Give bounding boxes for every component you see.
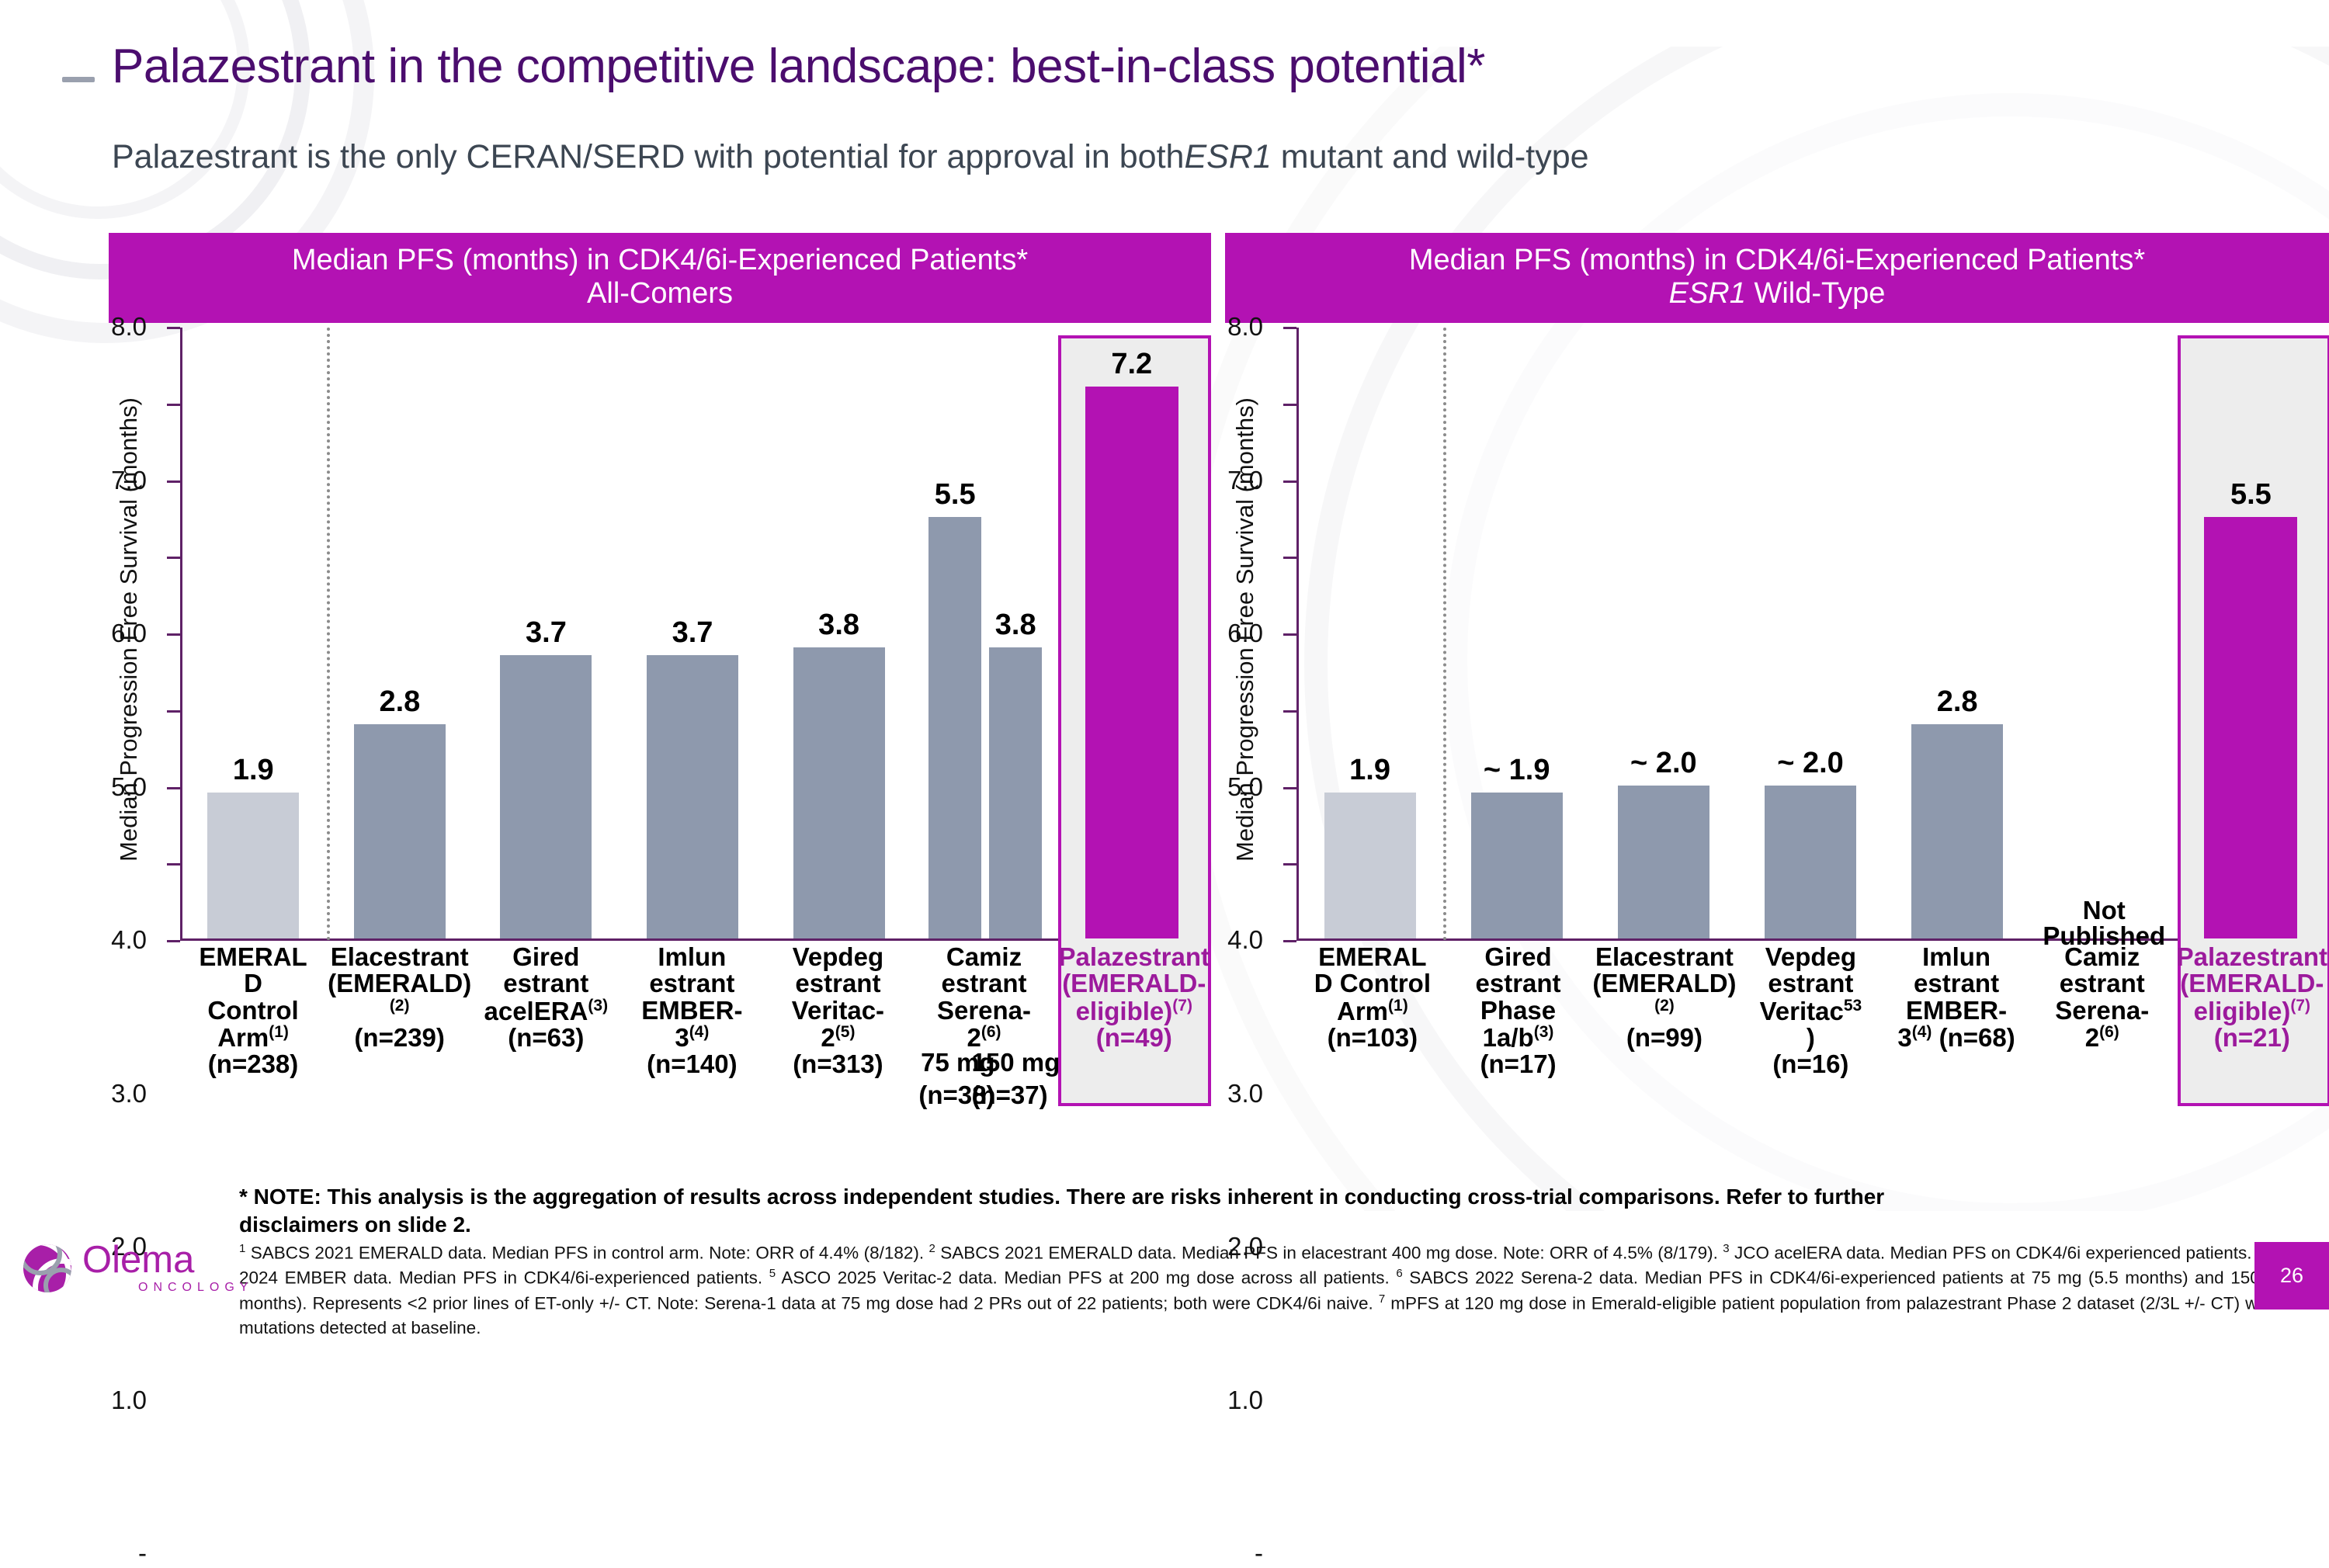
bar[interactable]: 2.8 <box>354 724 446 939</box>
footnote-note: * NOTE: This analysis is the aggregation… <box>239 1183 1947 1239</box>
y-tick-label: 4.0 <box>111 925 147 955</box>
footnote-references: 1 SABCS 2021 EMERALD data. Median PFS in… <box>239 1240 2327 1341</box>
bar-value-label: 2.8 <box>1937 685 1978 719</box>
chart-all-comers: Median Progression Free Survival (months… <box>109 323 1211 1262</box>
bar-value-label: 3.7 <box>672 616 713 650</box>
y-tick: 6.0 <box>1283 480 1296 483</box>
y-tick-label: 1.0 <box>111 1386 147 1415</box>
x-axis-category-label: Palazestrant(EMERALD-eligible)(7)(n=21) <box>2175 944 2329 1078</box>
x-axis-category-label: GiredestrantacelERA(3)(n=63) <box>473 944 619 1084</box>
bar-slot[interactable]: ~ 2.0 <box>1590 328 1737 938</box>
control-divider <box>1443 328 1446 941</box>
bar-slot[interactable]: 3.8 <box>765 328 912 938</box>
y-tick: 2.0 <box>1283 787 1296 789</box>
x-axis-line-left <box>180 938 1205 941</box>
panel-left-header-line2: All-Comers <box>116 277 1203 310</box>
bar[interactable]: 3.7 <box>500 655 592 938</box>
bar-group: 1.92.83.73.73.85.53.87.2 <box>180 328 1205 938</box>
y-tick: 1.0 <box>167 863 180 866</box>
bar-value-label: 3.8 <box>818 609 859 642</box>
bar[interactable]: ~ 2.0 <box>1765 786 1856 939</box>
y-tick: 3.0 <box>1283 710 1296 713</box>
x-axis-category-label: EMERALD ControlArm(1)(n=103) <box>1300 944 1446 1078</box>
page-number: 26 <box>2254 1242 2329 1310</box>
bar-value-label: 1.9 <box>1349 754 1390 787</box>
x-axis-category-label: Elacestrant(EMERALD)(2)(n=239) <box>326 944 473 1084</box>
company-logo: Olema ONCOLOGY <box>23 1242 253 1295</box>
subtitle-part-a: Palazestrant is the only CERAN/SERD with… <box>112 138 1184 175</box>
y-tick-label: 8.0 <box>111 312 147 342</box>
bar-slot[interactable]: 2.8 <box>327 328 474 938</box>
chart-esr1-wild-type: Median Progression Free Survival (months… <box>1225 323 2329 1262</box>
bar-value-label: 5.5 <box>935 478 976 512</box>
x-axis-category-label: EMERALDControlArm(1)(n=238) <box>180 944 326 1084</box>
bar-slot[interactable]: 3.7 <box>620 328 766 938</box>
bar-group: 1.9~ 1.9~ 2.0~ 2.02.8Not Published5.5 <box>1296 328 2324 938</box>
bar-value-label: 7.2 <box>1111 348 1152 381</box>
y-tick: 2.0 <box>167 787 180 789</box>
bar[interactable]: 7.2 <box>1085 387 1178 938</box>
bar-slot[interactable]: 7.2 <box>1058 328 1205 938</box>
bar-slot[interactable]: ~ 1.9 <box>1443 328 1590 938</box>
bar-value-label: 3.8 <box>995 609 1036 642</box>
bar-slot[interactable]: 3.7 <box>473 328 620 938</box>
bar-slot[interactable]: 1.9 <box>1296 328 1443 938</box>
panel-right-gene-name: ESR1 <box>1669 277 1746 310</box>
bar[interactable]: 2.8 <box>1911 724 2003 939</box>
y-tick: 5.0 <box>1283 557 1296 559</box>
not-published-label: Not Published <box>2036 897 2172 949</box>
bar-value-label: 3.7 <box>526 616 567 650</box>
dash-icon <box>62 77 95 82</box>
x-axis-labels-left: EMERALDControlArm(1)(n=238)Elacestrant(E… <box>180 944 1211 1084</box>
slide-header: Palazestrant in the competitive landscap… <box>62 43 1485 91</box>
y-tick: 4.0 <box>167 633 180 636</box>
bar[interactable]: 5.5 <box>2204 517 2297 938</box>
x-axis-category-label: ImlunestrantEMBER-3(4)(n=140) <box>619 944 765 1084</box>
y-tick: 4.0 <box>1283 633 1296 636</box>
y-tick: 6.0 <box>167 480 180 483</box>
bar[interactable]: 1.9 <box>207 793 299 938</box>
bar[interactable]: 3.7 <box>647 655 738 938</box>
y-tick: 5.0 <box>167 557 180 559</box>
panel-left-header-line1: Median PFS (months) in CDK4/6i-Experienc… <box>116 244 1203 277</box>
panel-right-header: Median PFS (months) in CDK4/6i-Experienc… <box>1225 233 2329 323</box>
y-tick: - <box>167 940 180 942</box>
x-axis-category-label: Elacestrant(EMERALD)(2)(n=99) <box>1591 944 1737 1078</box>
bar-slot[interactable]: 1.9 <box>180 328 327 938</box>
panel-esr1-wild-type: Median PFS (months) in CDK4/6i-Experienc… <box>1225 233 2329 1262</box>
y-tick-label: 3.0 <box>111 1079 147 1108</box>
bar[interactable]: 1.9 <box>1324 793 1416 938</box>
page-title: Palazestrant in the competitive landscap… <box>112 43 1485 91</box>
bar-value-label: ~ 2.0 <box>1630 747 1697 780</box>
x-axis-category-label: VepdegestrantVeritac-2(5)(n=313) <box>765 944 911 1084</box>
y-tick: 3.0 <box>167 710 180 713</box>
bar-value-label: 1.9 <box>233 754 274 787</box>
page-subtitle: Palazestrant is the only CERAN/SERD with… <box>112 138 1589 176</box>
y-tick-label: 3.0 <box>1227 1079 1263 1108</box>
panel-right-header-rest: Wild-Type <box>1746 277 1885 310</box>
bar-slot[interactable]: 2.8 <box>1884 328 2031 938</box>
olema-mark-icon <box>23 1244 71 1292</box>
y-tick: 8.0 <box>1283 327 1296 329</box>
y-tick-label: 6.0 <box>1227 619 1263 648</box>
bar-slot[interactable]: 5.5 <box>2178 328 2324 938</box>
panel-all-comers: Median PFS (months) in CDK4/6i-Experienc… <box>109 233 1211 1262</box>
bar-slot[interactable]: Not Published <box>2031 328 2178 938</box>
x-axis-labels-right: EMERALD ControlArm(1)(n=103)Giredestrant… <box>1300 944 2329 1078</box>
bar[interactable]: 3.8 <box>793 647 885 938</box>
x-axis-category-label: ImlunestrantEMBER-3(4) (n=68) <box>1883 944 2029 1078</box>
y-tick: 8.0 <box>167 327 180 329</box>
y-tick: 1.0 <box>1283 863 1296 866</box>
bar[interactable]: ~ 2.0 <box>1618 786 1709 939</box>
bar[interactable]: 5.5 <box>928 517 981 938</box>
y-tick-label: 7.0 <box>111 466 147 495</box>
y-tick-label: 5.0 <box>1227 772 1263 802</box>
y-tick-label: 4.0 <box>1227 925 1263 955</box>
y-tick-label: 8.0 <box>1227 312 1263 342</box>
logo-subtitle: ONCOLOGY <box>138 1281 253 1295</box>
y-tick-label: 6.0 <box>111 619 147 648</box>
y-tick-label: 1.0 <box>1227 1386 1263 1415</box>
bar-value-label: ~ 1.9 <box>1484 754 1550 787</box>
y-tick: 7.0 <box>167 404 180 406</box>
y-tick-label: 5.0 <box>111 772 147 802</box>
panel-right-header-line1: Median PFS (months) in CDK4/6i-Experienc… <box>1233 244 2321 277</box>
plot-area-left: -1.02.03.04.05.06.07.08.01.92.83.73.73.8… <box>180 328 1205 941</box>
y-tick: 7.0 <box>1283 404 1296 406</box>
bar-slot[interactable]: ~ 2.0 <box>1737 328 1883 938</box>
y-tick: - <box>1283 940 1296 942</box>
logo-name: Olema <box>82 1242 253 1278</box>
x-axis-category-label: CamizestrantSerena-2(6)75 mg150 mg(n=38)… <box>911 944 1057 1084</box>
y-tick-label: 7.0 <box>1227 466 1263 495</box>
bar[interactable]: ~ 1.9 <box>1471 793 1563 938</box>
subtitle-gene-name: ESR1 <box>1184 138 1271 175</box>
y-tick-label: - <box>1255 1539 1263 1568</box>
x-axis-category-label: VepdegestrantVeritac53)(n=16) <box>1738 944 1884 1078</box>
x-axis-category-label: GiredestrantPhase1a/b(3)(n=17) <box>1446 944 1591 1078</box>
y-tick-label: - <box>138 1539 147 1568</box>
x-axis-category-label: CamizestrantSerena-2(6) <box>2029 944 2175 1078</box>
subtitle-part-b: mutant and wild-type <box>1272 138 1589 175</box>
panel-right-header-line2: ESR1 Wild-Type <box>1233 277 2321 310</box>
bar-value-label: ~ 2.0 <box>1777 747 1844 780</box>
plot-area-right: -1.02.03.04.05.06.07.08.01.9~ 1.9~ 2.0~ … <box>1296 328 2324 941</box>
control-divider <box>327 328 330 941</box>
bar-slot[interactable]: 5.53.8 <box>912 328 1059 938</box>
x-axis-category-label: Palazestrant(EMERALD-eligible)(7)(n=49) <box>1057 944 1211 1084</box>
bar-value-label: 5.5 <box>2230 478 2272 512</box>
panel-left-header: Median PFS (months) in CDK4/6i-Experienc… <box>109 233 1211 323</box>
bar[interactable]: 3.8 <box>989 647 1042 938</box>
bar-value-label: 2.8 <box>379 685 420 719</box>
